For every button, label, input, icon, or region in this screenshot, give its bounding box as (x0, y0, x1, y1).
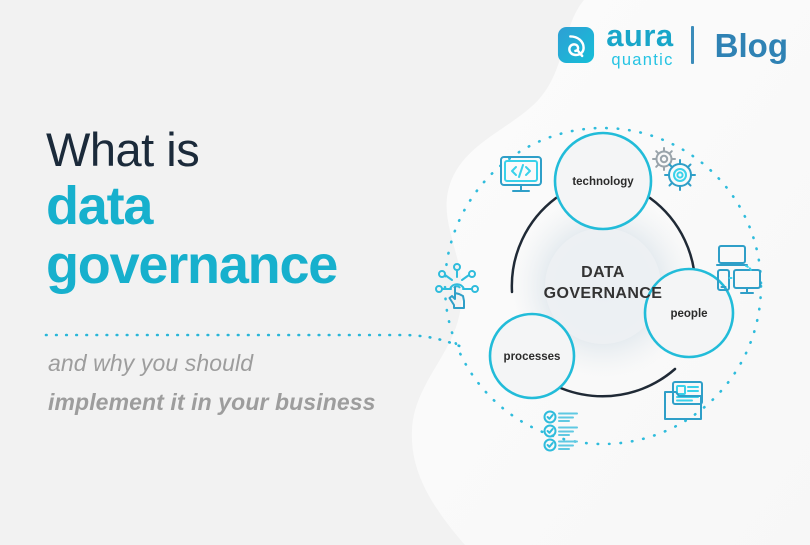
title-line-1: What is (46, 126, 337, 174)
center-title-line-2: GOVERNANCE (544, 285, 663, 302)
subtitle: and why you should implement it in your … (48, 350, 376, 416)
brand-aura-text: aura (606, 22, 673, 51)
title-line-3: governance (46, 237, 337, 294)
auraquantic-logo-icon (557, 26, 595, 64)
title-line-2: data (46, 178, 337, 235)
brand-lockup[interactable]: aura quantic Blog (557, 22, 788, 68)
monitor-code-icon (501, 157, 541, 191)
gears-icon (653, 148, 695, 190)
node-technology-label: technology (572, 176, 634, 188)
node-processes[interactable]: processes (490, 314, 574, 398)
brand-divider (691, 26, 694, 64)
brand-blog-text[interactable]: Blog (715, 29, 788, 62)
node-technology[interactable]: technology (555, 133, 651, 229)
page-title: What is data governance (46, 126, 337, 293)
touch-network-icon (436, 264, 478, 308)
node-people[interactable]: people (645, 269, 733, 357)
poster-canvas: aura quantic Blog What is data governanc… (0, 0, 810, 545)
brand-wordmark: aura quantic (606, 22, 673, 68)
subtitle-line-1: and why you should (48, 350, 376, 377)
subtitle-line-2: implement it in your business (48, 389, 376, 416)
node-processes-label: processes (504, 351, 561, 363)
data-governance-diagram: technology people processes DATA GOVERNA… (412, 118, 810, 498)
folder-id-card-icon (665, 382, 702, 419)
checklist-icon (545, 412, 578, 451)
dotted-divider (44, 326, 464, 350)
center-title-line-1: DATA (581, 264, 625, 281)
node-people-label: people (670, 308, 707, 320)
brand-quantic-text: quantic (606, 52, 673, 69)
